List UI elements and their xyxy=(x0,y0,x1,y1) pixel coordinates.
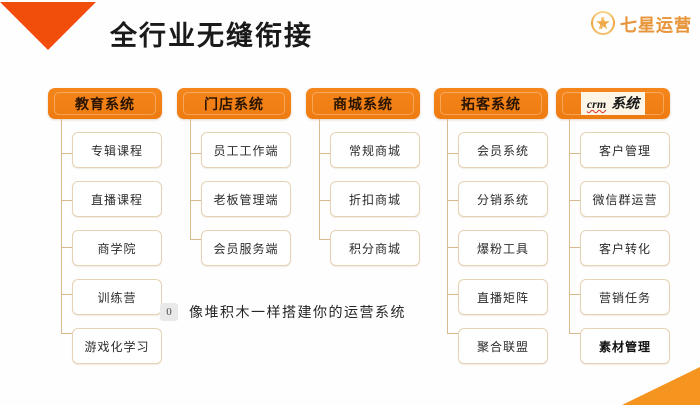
column-mall: 商城系统 常规商城 折扣商城 积分商城 xyxy=(306,88,420,119)
list-item-label: 折扣商城 xyxy=(349,191,401,208)
list-item-label: 直播课程 xyxy=(91,191,143,208)
list-item[interactable]: 直播矩阵 xyxy=(458,279,548,315)
list-item[interactable]: 会员系统 xyxy=(458,132,548,168)
column-acquisition: 拓客系统 会员系统 分销系统 爆粉工具 直播矩阵 聚合联盟 xyxy=(434,88,548,119)
connector-stub xyxy=(569,247,580,248)
connector-stub xyxy=(61,200,72,201)
column-header-mall[interactable]: 商城系统 xyxy=(306,88,420,119)
column-header-label: 门店系统 xyxy=(204,94,264,114)
page-title: 全行业无缝衔接 xyxy=(110,14,313,53)
list-item-label: 会员服务端 xyxy=(213,240,278,257)
star-badge-icon xyxy=(590,10,616,36)
crm-header-cn-label: 系统 xyxy=(611,96,639,112)
connector-rail xyxy=(61,119,62,333)
column-items: 专辑课程 直播课程 商学院 训练营 游戏化学习 xyxy=(72,119,162,364)
column-items: 会员系统 分销系统 爆粉工具 直播矩阵 聚合联盟 xyxy=(458,119,548,364)
connector-stub xyxy=(447,153,458,154)
list-item-label: 聚合联盟 xyxy=(477,338,529,355)
list-item[interactable]: 客户转化 xyxy=(580,230,670,266)
connector-stub xyxy=(190,200,201,201)
list-item-label: 专辑课程 xyxy=(91,142,143,159)
list-item-label: 老板管理端 xyxy=(213,191,278,208)
list-item-label: 营销任务 xyxy=(599,289,651,306)
column-header-education[interactable]: 教育系统 xyxy=(48,88,162,119)
list-item[interactable]: 客户管理 xyxy=(580,132,670,168)
column-header-store[interactable]: 门店系统 xyxy=(177,88,291,119)
list-item-label: 爆粉工具 xyxy=(477,240,529,257)
column-header-acquisition[interactable]: 拓客系统 xyxy=(434,88,548,119)
column-items: 客户管理 微信群运营 客户转化 营销任务 素材管理 xyxy=(580,119,670,364)
column-items: 常规商城 折扣商城 积分商城 xyxy=(330,119,420,266)
column-store: 门店系统 员工工作端 老板管理端 会员服务端 xyxy=(177,88,291,119)
list-item[interactable]: 商学院 xyxy=(72,230,162,266)
list-item[interactable]: 积分商城 xyxy=(330,230,420,266)
decor-triangle-top-left-icon xyxy=(0,2,96,50)
decor-triangle-bottom-right-icon xyxy=(622,367,700,405)
list-item-label: 直播矩阵 xyxy=(477,289,529,306)
crm-header-en-label: crm xyxy=(587,97,606,111)
column-header-label: 教育系统 xyxy=(75,94,135,114)
connector-stub xyxy=(447,247,458,248)
connector-stub xyxy=(190,153,201,154)
connector-rail xyxy=(447,119,448,333)
list-item[interactable]: 直播课程 xyxy=(72,181,162,217)
list-item-label: 分销系统 xyxy=(477,191,529,208)
connector-rail xyxy=(319,119,320,239)
connector-stub xyxy=(61,333,72,334)
connector-stub xyxy=(190,239,201,240)
list-item-label: 常规商城 xyxy=(349,142,401,159)
connector-stub xyxy=(61,294,72,295)
list-item[interactable]: 素材管理 xyxy=(580,328,670,364)
column-header-label: 商城系统 xyxy=(333,94,393,114)
connector-stub xyxy=(569,333,580,334)
caption-text: 像堆积木一样搭建你的运营系统 xyxy=(189,302,406,322)
crm-text-edit-box[interactable]: crm系统 xyxy=(581,92,645,115)
list-item[interactable]: 营销任务 xyxy=(580,279,670,315)
list-item[interactable]: 训练营 xyxy=(72,279,162,315)
list-item[interactable]: 专辑课程 xyxy=(72,132,162,168)
column-header-crm[interactable]: crm系统 xyxy=(556,88,670,119)
list-item-label: 客户转化 xyxy=(599,240,651,257)
connector-stub xyxy=(569,153,580,154)
connector-stub xyxy=(319,200,330,201)
list-item[interactable]: 爆粉工具 xyxy=(458,230,548,266)
list-item-label: 员工工作端 xyxy=(213,142,278,159)
list-item-label: 商学院 xyxy=(97,240,136,257)
connector-stub xyxy=(569,294,580,295)
list-item-label: 素材管理 xyxy=(599,338,651,355)
list-item[interactable]: 常规商城 xyxy=(330,132,420,168)
list-item[interactable]: 会员服务端 xyxy=(201,230,291,266)
connector-stub xyxy=(61,247,72,248)
caption: 0 像堆积木一样搭建你的运营系统 xyxy=(160,302,406,322)
brand-name: 七星运营 xyxy=(620,11,692,36)
column-education: 教育系统 专辑课程 直播课程 商学院 训练营 游戏化学习 xyxy=(48,88,162,119)
column-crm: crm系统 客户管理 微信群运营 客户转化 营销任务 素材管理 xyxy=(556,88,670,119)
list-item-label: 训练营 xyxy=(97,289,136,306)
connector-stub xyxy=(447,333,458,334)
column-items: 员工工作端 老板管理端 会员服务端 xyxy=(201,119,291,266)
column-header-label: 拓客系统 xyxy=(461,94,521,114)
list-item-label: 游戏化学习 xyxy=(84,338,149,355)
list-item[interactable]: 分销系统 xyxy=(458,181,548,217)
list-item[interactable]: 聚合联盟 xyxy=(458,328,548,364)
connector-stub xyxy=(319,239,330,240)
list-item-label: 会员系统 xyxy=(477,142,529,159)
list-item[interactable]: 员工工作端 xyxy=(201,132,291,168)
slide-canvas: 全行业无缝衔接 七星运营 教育系统 xyxy=(0,0,700,405)
caption-marker: 0 xyxy=(160,303,178,321)
connector-stub xyxy=(61,153,72,154)
brand-logo: 七星运营 xyxy=(590,10,692,36)
list-item[interactable]: 微信群运营 xyxy=(580,181,670,217)
list-item[interactable]: 老板管理端 xyxy=(201,181,291,217)
list-item-label: 微信群运营 xyxy=(592,191,657,208)
list-item[interactable]: 游戏化学习 xyxy=(72,328,162,364)
list-item-label: 客户管理 xyxy=(599,142,651,159)
connector-stub xyxy=(319,153,330,154)
connector-rail xyxy=(190,119,191,239)
connector-stub xyxy=(447,200,458,201)
connector-rail xyxy=(569,119,570,333)
list-item-label: 积分商城 xyxy=(349,240,401,257)
connector-stub xyxy=(447,294,458,295)
connector-stub xyxy=(569,200,580,201)
list-item[interactable]: 折扣商城 xyxy=(330,181,420,217)
